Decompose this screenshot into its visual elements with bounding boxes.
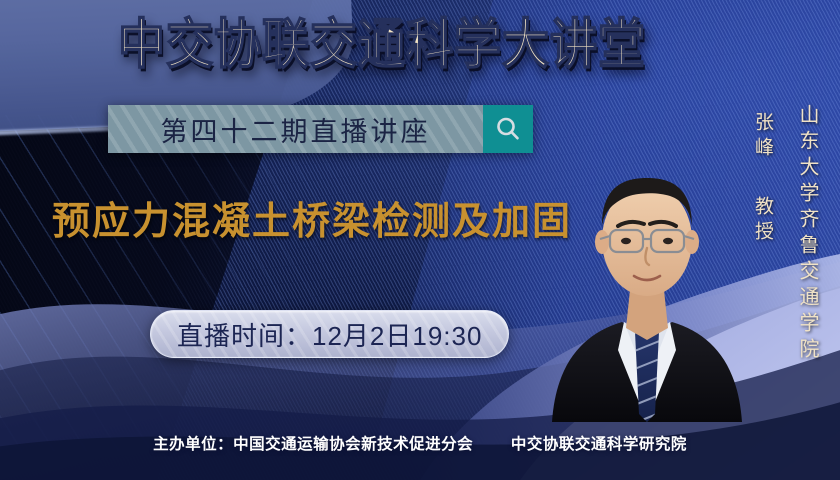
speaker-photo [542,122,752,422]
organizer-line: 主办单位：中国交通运输协会新技术促进分会 中交协联交通科学研究院 [0,432,840,454]
page-title: 中交协联交通科学大讲堂 [118,16,646,74]
background-light-rays [0,115,479,451]
subtitle-band-body: 第四十二期直播讲座 [108,105,483,153]
subtitle-band: 第四十二期直播讲座 [108,105,533,153]
broadcast-time-badge: 直播时间：12月2日19:30 [150,310,509,358]
poster-root: 中交协联交通科学大讲堂 第四十二期直播讲座 预应力混凝土桥梁检测及加固 直播时间… [0,0,840,480]
speaker-role: 教授 [749,196,776,246]
speaker-organization: 山东大学齐鲁交通学院 [793,104,822,364]
speaker-name: 张峰 [749,112,776,162]
organizer-prefix: 主办单位：中国交通运输协会新技术促进分会 [153,436,473,453]
subtitle-text: 第四十二期直播讲座 [161,110,431,149]
broadcast-time-text: 直播时间：12月2日19:30 [177,316,482,353]
lecture-headline: 预应力混凝土桥梁检测及加固 [52,190,572,245]
search-icon[interactable] [483,105,533,153]
organizer-suffix: 中交协联交通科学研究院 [511,436,687,453]
